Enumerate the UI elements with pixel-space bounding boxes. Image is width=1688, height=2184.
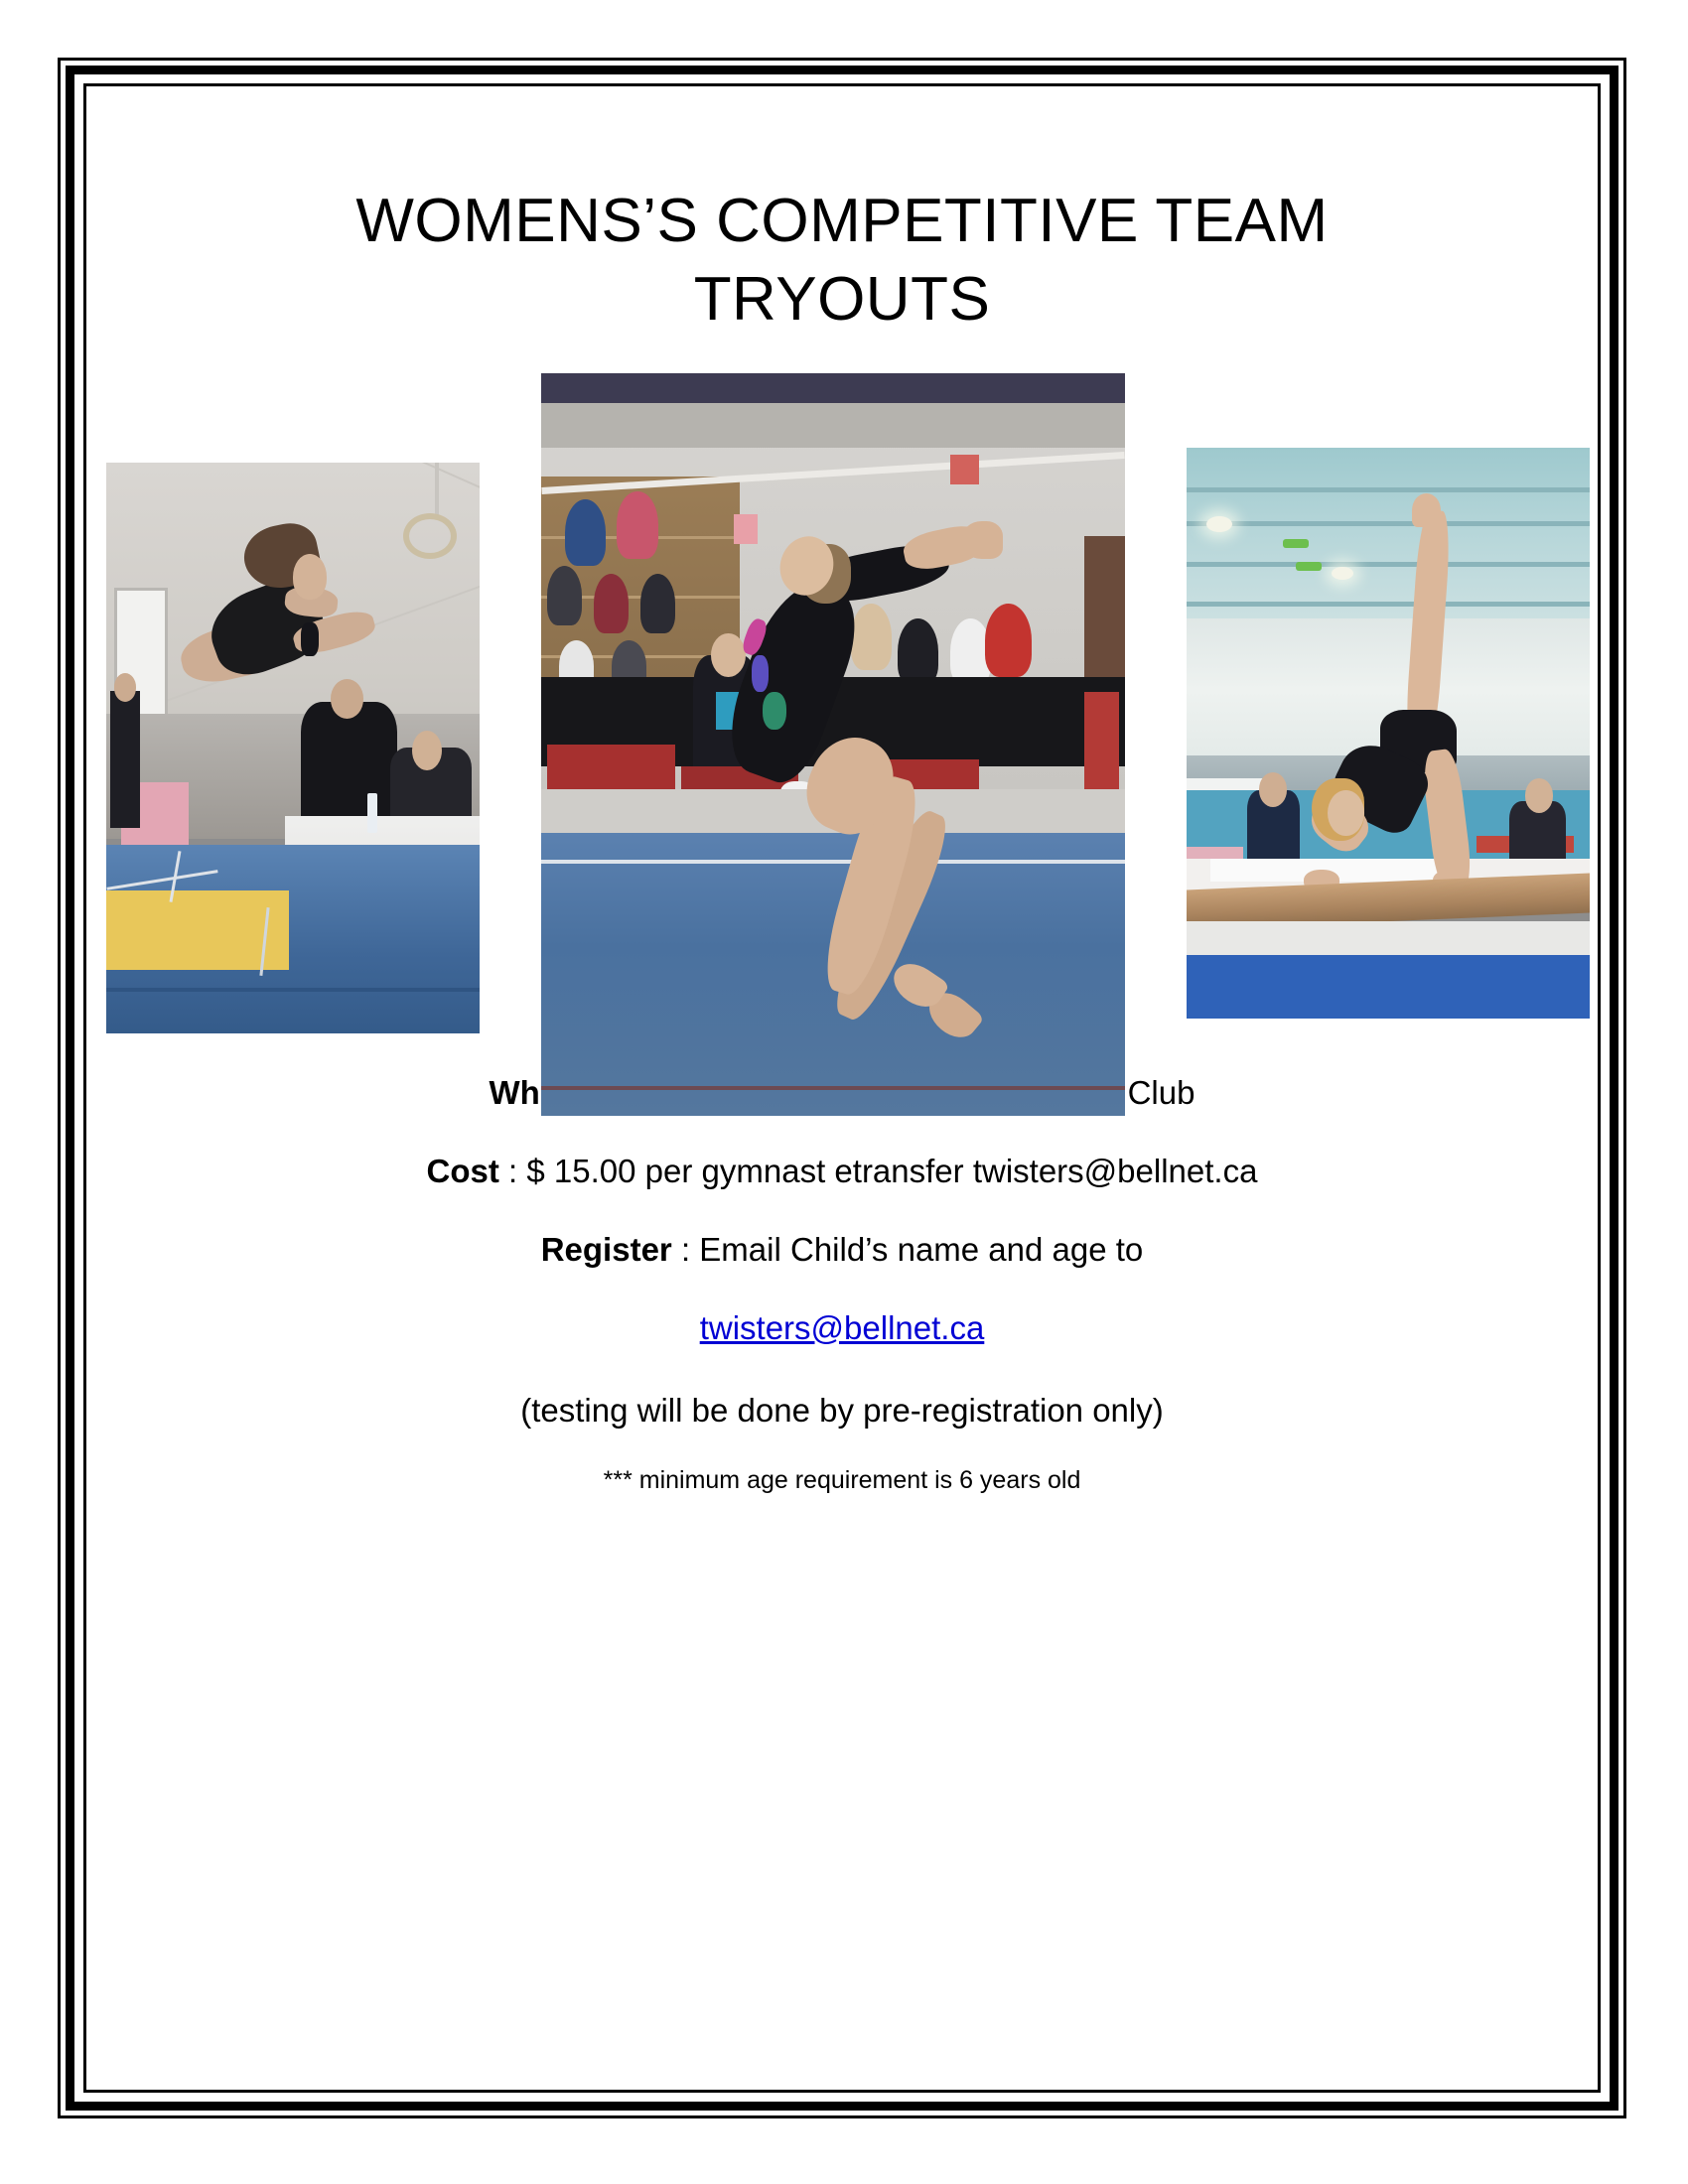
- detail-cost: Cost : $ 15.00 per gymnast etransfer twi…: [94, 1155, 1590, 1187]
- floor-mat-seam: [541, 1086, 1125, 1090]
- detail-register: Register : Email Child’s name and age to: [94, 1233, 1590, 1266]
- page-title-line-1: WOMENS’S COMPETITIVE TEAM: [94, 182, 1590, 260]
- beam-gymnast-head: [1328, 790, 1364, 836]
- judging-papers: [1210, 859, 1469, 882]
- gymnast-balance-beam-scene: [1187, 448, 1590, 1019]
- ceiling-lamp-1: [1206, 516, 1232, 532]
- spectator-1: [565, 499, 606, 566]
- gymnast-floor-routine-scene: [541, 373, 1125, 1116]
- beam-gymnast-raised-foot: [1412, 493, 1440, 528]
- detail-register-value: Email Child’s name and age to: [699, 1231, 1143, 1268]
- wall-sign: [734, 514, 758, 544]
- hanging-rope: [435, 463, 439, 520]
- beam-judge-two-head: [1525, 778, 1553, 813]
- green-light-2: [1296, 562, 1322, 571]
- spectator-2: [617, 491, 657, 558]
- page-title-line-2: TRYOUTS: [94, 260, 1590, 339]
- detail-cost-label: Cost: [427, 1153, 499, 1189]
- spectator-9: [898, 618, 938, 685]
- detail-register-label: Register: [541, 1231, 672, 1268]
- detail-cost-value: $ 15.00 per gymnast etransfer twisters@b…: [526, 1153, 1257, 1189]
- ceiling-rafter-4: [1187, 602, 1590, 607]
- spectator-11: [985, 604, 1032, 678]
- standing-spectator-body: [110, 691, 140, 828]
- ceiling-rafter-3: [1187, 562, 1590, 567]
- flyer-page: WOMENS’S COMPETITIVE TEAM TRYOUTS: [0, 0, 1688, 2184]
- flyer-content: WOMENS’S COMPETITIVE TEAM TRYOUTS: [94, 94, 1590, 2082]
- email-link[interactable]: twisters@bellnet.ca: [700, 1309, 985, 1346]
- ceiling-rafter-2: [1187, 521, 1590, 526]
- event-details: Where : Twisters Gymnastics & Trampoline…: [94, 1076, 1590, 1495]
- routine-gymnast-hand: [961, 521, 1002, 558]
- gymnast-floor-leap-scene: [106, 463, 480, 1033]
- spectator-8: [851, 604, 892, 670]
- seated-coach-head: [711, 633, 746, 678]
- floor-mat-edge-line: [541, 860, 1125, 864]
- detail-cost-separator: :: [499, 1153, 527, 1189]
- red-equipment-stand: [1084, 692, 1119, 796]
- arena-ceiling-teal: [1187, 448, 1590, 636]
- exit-sign: [950, 455, 979, 484]
- ceiling-beam: [541, 403, 1125, 448]
- spectator-4: [594, 574, 629, 633]
- leotard-decoration-green: [763, 692, 786, 729]
- photo-collage: [94, 373, 1590, 1068]
- green-light-1: [1283, 539, 1309, 548]
- spectator-3: [547, 566, 582, 625]
- leotard-decoration-purple: [752, 655, 770, 692]
- standing-spectator-head: [114, 673, 137, 702]
- gymnast-floor-leap-photo: [106, 463, 480, 1033]
- wooden-door: [1084, 536, 1125, 700]
- detail-fineprint: *** minimum age requirement is 6 years o…: [94, 1466, 1590, 1495]
- gymnast-balance-beam-photo: [1187, 448, 1590, 1019]
- spectator-5: [640, 574, 675, 633]
- ceiling-rafter-1: [1187, 487, 1590, 492]
- gymnast-floor-routine-photo: [541, 373, 1125, 1116]
- leaping-gymnast-wrist-guard: [301, 622, 320, 657]
- detail-register-separator: :: [672, 1231, 700, 1268]
- detail-email: twisters@bellnet.ca: [94, 1311, 1590, 1344]
- water-bottle: [367, 793, 376, 833]
- floor-stripe: [106, 988, 480, 992]
- detail-note: (testing will be done by pre-registratio…: [94, 1394, 1590, 1427]
- leaping-gymnast-head: [293, 554, 327, 600]
- page-title: WOMENS’S COMPETITIVE TEAM TRYOUTS: [94, 94, 1590, 340]
- beam-landing-mat-blue: [1187, 955, 1590, 1018]
